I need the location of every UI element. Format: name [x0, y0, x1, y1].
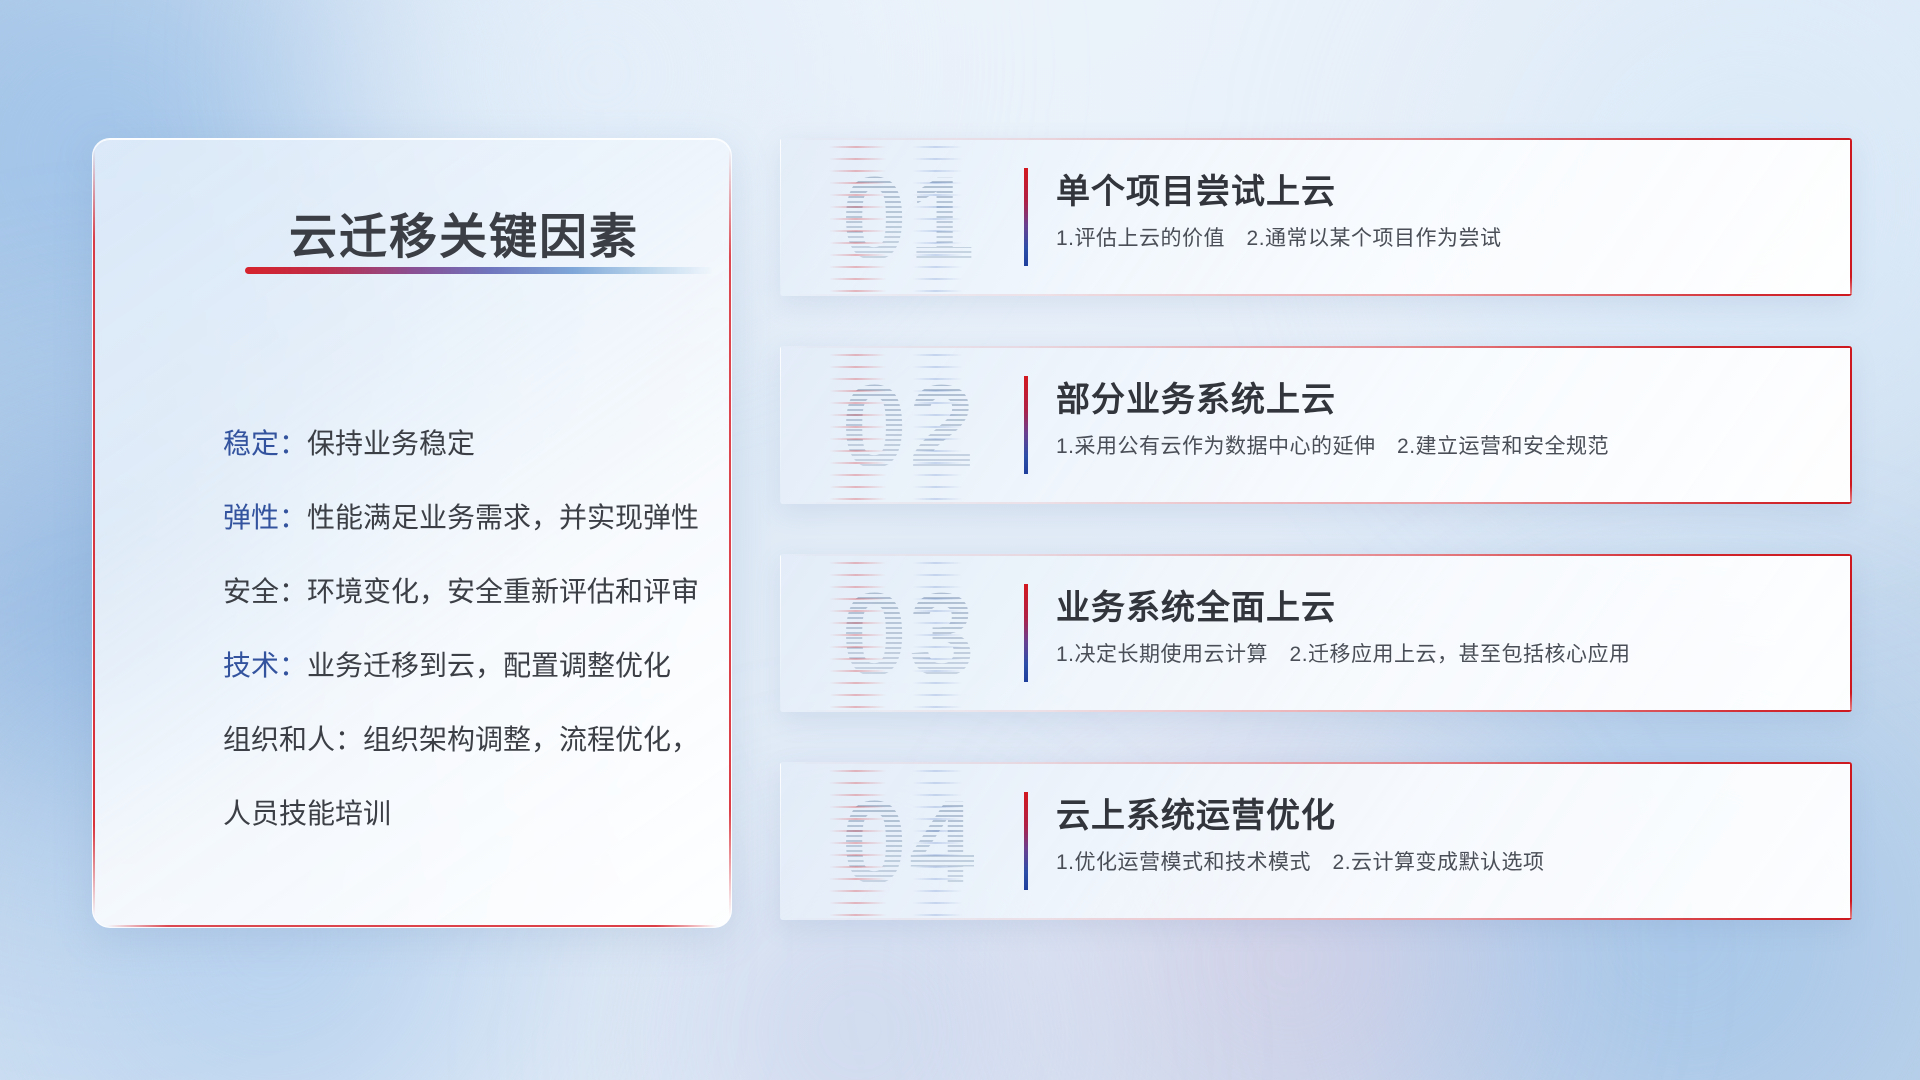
factor-text: 业务迁移到云，配置调整优化 — [307, 650, 671, 681]
card-border-bottom — [780, 294, 1852, 296]
card-border-right — [1850, 138, 1852, 296]
card-accent-bar — [1024, 376, 1028, 474]
factor-row: 安全：环境变化，安全重新评估和评审 — [223, 555, 691, 629]
stage-description: 1.采用公有云作为数据中心的延伸 2.建立运营和安全规范 — [1056, 430, 1609, 460]
stage-card[interactable]: 04云上系统运营优化1.优化运营模式和技术模式 2.云计算变成默认选项 — [780, 762, 1852, 920]
card-accent-bar — [1024, 584, 1028, 682]
card-border-right — [1850, 554, 1852, 712]
card-border-right — [1850, 762, 1852, 920]
stage-title: 单个项目尝试上云 — [1056, 164, 1336, 213]
stage-description: 1.决定长期使用云计算 2.迁移应用上云，甚至包括核心应用 — [1056, 638, 1631, 668]
page-title: 云迁移关键因素 — [289, 197, 639, 267]
stage-number: 04 — [814, 770, 1004, 916]
card-border-bottom — [780, 710, 1852, 712]
factor-label: 组织和人： — [223, 724, 363, 755]
stage-description: 1.评估上云的价值 2.通常以某个项目作为尝试 — [1056, 222, 1502, 252]
card-border-top — [780, 554, 1852, 556]
factor-label: 技术： — [223, 650, 307, 681]
stage-description: 1.优化运营模式和技术模式 2.云计算变成默认选项 — [1056, 846, 1545, 876]
card-border-left — [780, 346, 781, 504]
factor-row: 人员技能培训 — [223, 777, 691, 851]
factor-label: 稳定： — [223, 428, 307, 459]
card-border-right — [1850, 346, 1852, 504]
stage-card[interactable]: 03业务系统全面上云1.决定长期使用云计算 2.迁移应用上云，甚至包括核心应用 — [780, 554, 1852, 712]
stage-card-list: 01单个项目尝试上云1.评估上云的价值 2.通常以某个项目作为尝试02部分业务系… — [780, 138, 1852, 970]
card-border-bottom — [780, 918, 1852, 920]
card-border-top — [780, 138, 1852, 140]
factor-row: 稳定：保持业务稳定 — [223, 407, 691, 481]
stage-card[interactable]: 01单个项目尝试上云1.评估上云的价值 2.通常以某个项目作为尝试 — [780, 138, 1852, 296]
card-border-top — [780, 762, 1852, 764]
panel-bottom-edge — [107, 925, 717, 927]
factor-text: 保持业务稳定 — [307, 428, 475, 459]
stage-title: 部分业务系统上云 — [1056, 372, 1336, 421]
factor-row: 弹性：性能满足业务需求，并实现弹性 — [223, 481, 691, 555]
stage-title: 云上系统运营优化 — [1056, 788, 1336, 837]
card-accent-bar — [1024, 792, 1028, 890]
stage-number: 01 — [814, 146, 1004, 292]
title-underline-accent — [245, 267, 713, 274]
card-accent-bar — [1024, 168, 1028, 266]
card-border-left — [780, 762, 781, 920]
stage-number: 02 — [814, 354, 1004, 500]
factor-text: 组织架构调整，流程优化， — [363, 724, 699, 755]
card-border-bottom — [780, 502, 1852, 504]
key-factors-panel: 云迁移关键因素 稳定：保持业务稳定弹性：性能满足业务需求，并实现弹性安全：环境变… — [92, 138, 732, 928]
card-border-top — [780, 346, 1852, 348]
card-border-left — [780, 138, 781, 296]
factor-row: 技术：业务迁移到云，配置调整优化 — [223, 629, 691, 703]
factor-label: 弹性： — [223, 502, 307, 533]
panel-right-edge — [729, 149, 731, 917]
stage-number: 03 — [814, 562, 1004, 708]
stage-title: 业务系统全面上云 — [1056, 580, 1336, 629]
factor-label: 安全： — [223, 576, 307, 607]
factor-list: 稳定：保持业务稳定弹性：性能满足业务需求，并实现弹性安全：环境变化，安全重新评估… — [223, 407, 691, 851]
factor-text: 人员技能培训 — [223, 798, 391, 829]
factor-text: 环境变化，安全重新评估和评审 — [307, 576, 699, 607]
factor-row: 组织和人：组织架构调整，流程优化， — [223, 703, 691, 777]
factor-text: 性能满足业务需求，并实现弹性 — [307, 502, 699, 533]
stage-card[interactable]: 02部分业务系统上云1.采用公有云作为数据中心的延伸 2.建立运营和安全规范 — [780, 346, 1852, 504]
card-border-left — [780, 554, 781, 712]
